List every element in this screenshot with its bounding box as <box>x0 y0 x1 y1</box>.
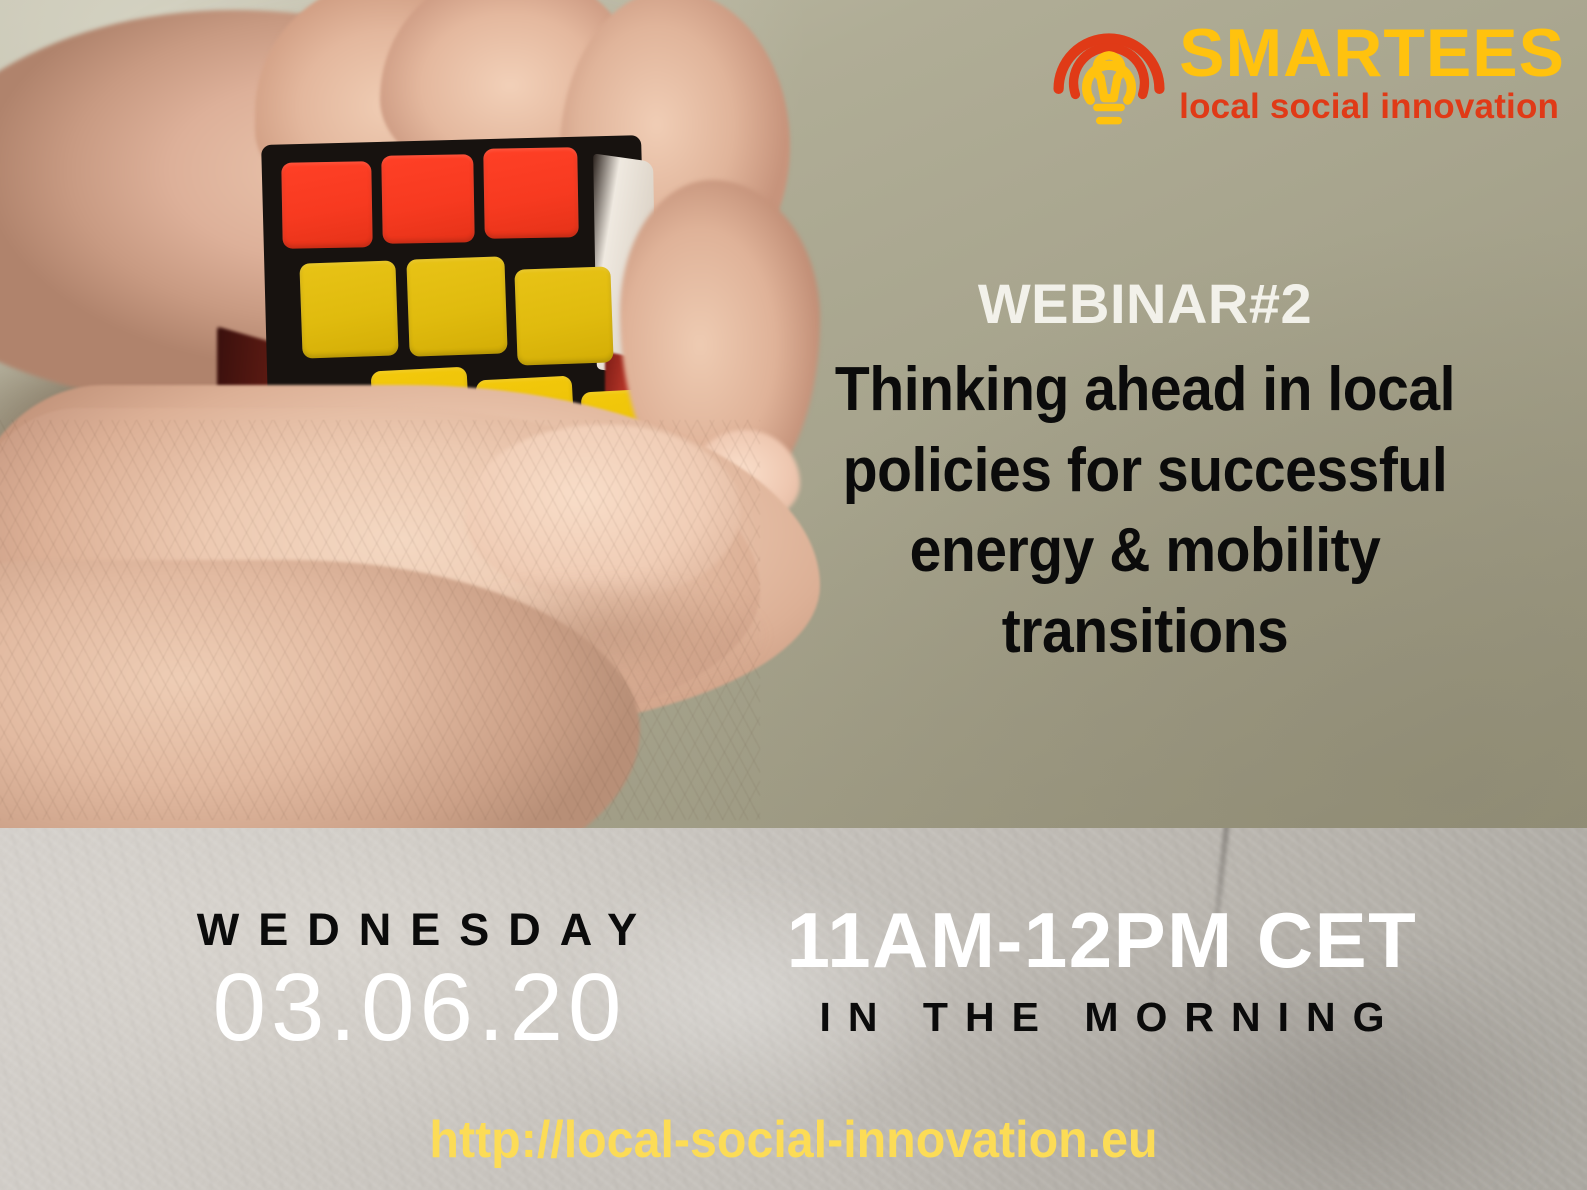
webinar-copy-block: WEBINAR#2 Thinking ahead in local polici… <box>800 275 1490 672</box>
smartees-logo[interactable]: SMARTEES local social innovation <box>1053 14 1565 132</box>
logo-title: SMARTEES <box>1179 20 1565 87</box>
day-of-week: WEDNESDAY <box>122 906 712 953</box>
schedule-content: WEDNESDAY 03.06.20 11AM-12PM CET IN THE … <box>0 828 1587 1190</box>
webinar-title: Thinking ahead in local policies for suc… <box>828 350 1463 672</box>
webinar-number-label: WEBINAR#2 <box>800 275 1490 332</box>
cube-tile-yellow-3 <box>514 266 613 365</box>
hand-illustration <box>0 0 820 828</box>
logo-wordmark: SMARTEES local social innovation <box>1179 20 1565 125</box>
event-time: 11AM-12PM CET <box>742 900 1462 982</box>
time-note: IN THE MORNING <box>742 996 1462 1039</box>
event-date: 03.06.20 <box>122 959 712 1057</box>
cube-tile-red-1 <box>281 161 372 249</box>
website-url-link[interactable]: http://local-social-innovation.eu <box>56 1110 1532 1170</box>
date-column: WEDNESDAY 03.06.20 <box>122 906 712 1057</box>
cube-tile-yellow-2 <box>406 256 507 356</box>
time-column: 11AM-12PM CET IN THE MORNING <box>742 900 1462 1039</box>
cube-tile-red-2 <box>381 154 475 244</box>
hand-hair-texture <box>0 420 760 820</box>
cube-tile-red-3 <box>483 147 579 239</box>
cube-tile-yellow-1 <box>299 260 398 358</box>
webinar-poster: SMARTEES local social innovation WEBINAR… <box>0 0 1587 1190</box>
schedule-bar: WEDNESDAY 03.06.20 11AM-12PM CET IN THE … <box>0 828 1587 1190</box>
logo-tagline: local social innovation <box>1179 89 1559 126</box>
smartees-lightbulb-logo-icon <box>1053 14 1165 132</box>
